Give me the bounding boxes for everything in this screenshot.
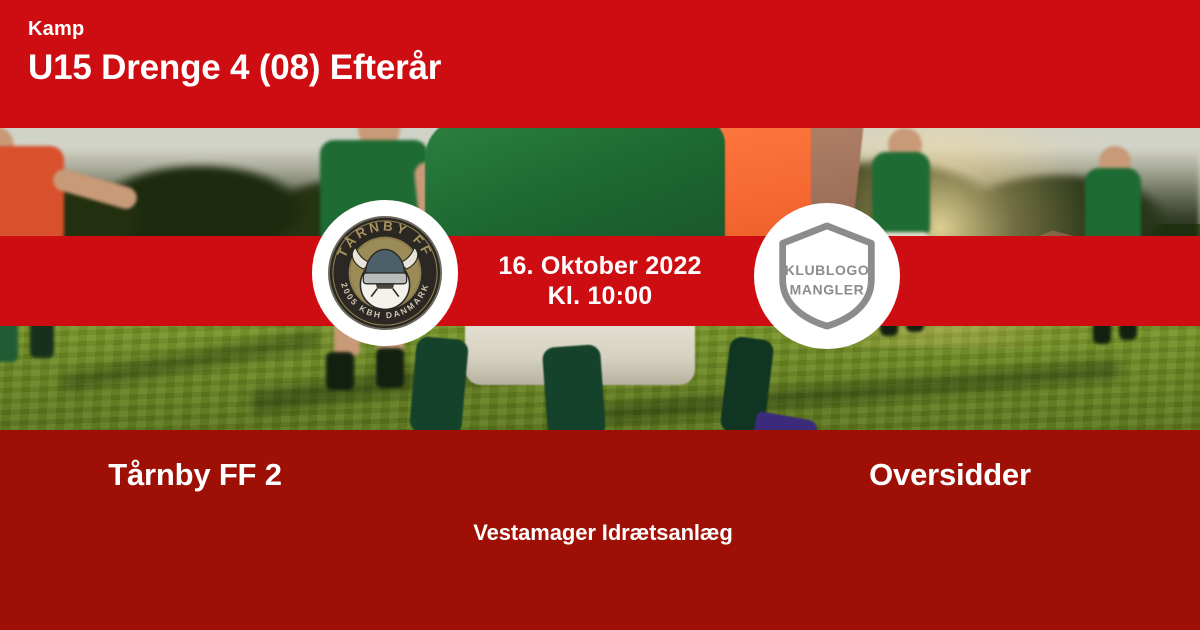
match-time: Kl. 10:00: [498, 281, 701, 312]
shield-icon: KLUBLOGO MANGLER: [774, 220, 880, 332]
placeholder-line1: KLUBLOGO: [785, 262, 870, 278]
page-title: U15 Drenge 4 (08) Efterår: [28, 48, 1200, 88]
match-venue: Vestamager Idrætsanlæg: [0, 520, 1200, 546]
away-team-crest: KLUBLOGO MANGLER: [754, 203, 900, 349]
tarnby-ff-crest-icon: TÅRNBY FF 2005 KBH DANMARK: [326, 214, 444, 332]
home-team-crest: TÅRNBY FF 2005 KBH DANMARK: [312, 200, 458, 346]
teams-band: Tårnby FF 2 Oversidder Vestamager Idræts…: [0, 430, 1200, 630]
match-poster: Kamp U15 Drenge 4 (08) Efterår: [0, 0, 1200, 630]
match-date-banner: 16. Oktober 2022 Kl. 10:00: [0, 236, 1200, 326]
teams-row: Tårnby FF 2 Oversidder: [0, 456, 1200, 493]
header-eyebrow: Kamp: [28, 18, 1200, 40]
away-team-name: Oversidder: [600, 456, 1200, 493]
placeholder-line2: MANGLER: [790, 281, 865, 297]
match-date: 16. Oktober 2022: [498, 251, 701, 282]
poster-header: Kamp U15 Drenge 4 (08) Efterår: [0, 0, 1200, 128]
home-team-name: Tårnby FF 2: [0, 456, 600, 493]
